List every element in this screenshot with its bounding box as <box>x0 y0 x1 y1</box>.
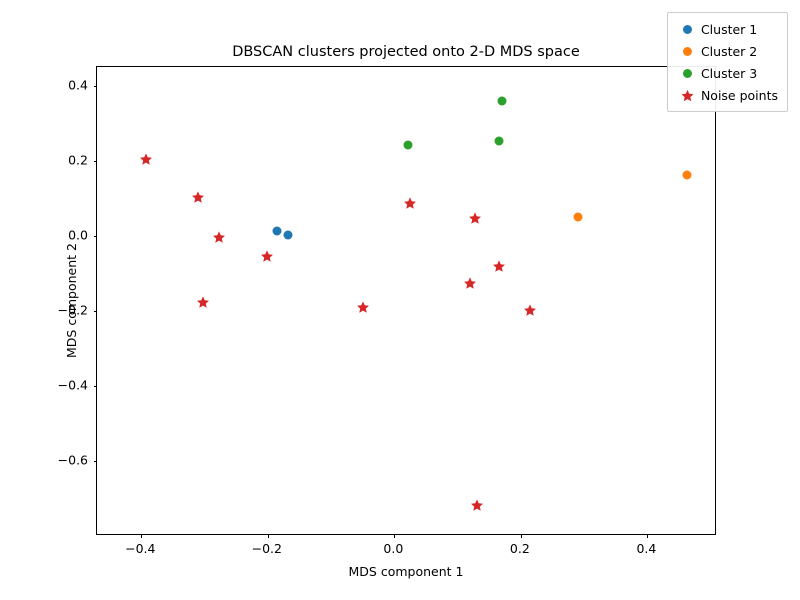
data-point <box>524 303 537 316</box>
legend: Cluster 1Cluster 2Cluster 3Noise points <box>667 12 788 112</box>
data-point-marker <box>683 170 692 179</box>
data-point <box>468 211 481 224</box>
data-point-marker <box>574 213 583 222</box>
data-point <box>495 136 504 145</box>
data-point <box>683 170 692 179</box>
data-point <box>140 152 153 165</box>
y-tick-label: −0.2 <box>58 302 88 317</box>
data-point-marker <box>497 96 506 105</box>
circle-marker-icon <box>675 47 701 56</box>
data-point <box>356 301 369 314</box>
data-point-marker <box>284 231 293 240</box>
data-point <box>403 196 416 209</box>
x-axis-label: MDS component 1 <box>96 564 716 579</box>
chart-title: DBSCAN clusters projected onto 2-D MDS s… <box>96 44 716 60</box>
star-marker-icon <box>675 89 701 102</box>
y-axis-label-text: MDS component 2 <box>64 243 79 358</box>
y-tick-mark <box>94 86 98 87</box>
legend-entry[interactable]: Cluster 2 <box>675 41 778 61</box>
data-point <box>284 231 293 240</box>
matplotlib-figure: DBSCAN clusters projected onto 2-D MDS s… <box>0 0 800 600</box>
data-point <box>404 140 413 149</box>
data-point <box>493 259 506 272</box>
x-tick-mark <box>141 534 142 538</box>
x-tick-mark <box>268 534 269 538</box>
data-point-marker <box>272 226 281 235</box>
legend-label: Cluster 2 <box>701 44 757 59</box>
y-tick-mark <box>94 236 98 237</box>
y-tick-label: 0.2 <box>68 152 88 167</box>
y-tick-label: 0.4 <box>68 77 88 92</box>
data-point <box>574 213 583 222</box>
legend-label: Cluster 1 <box>701 22 757 37</box>
legend-entry[interactable]: Cluster 3 <box>675 63 778 83</box>
data-point-marker <box>495 136 504 145</box>
x-tick-mark <box>394 534 395 538</box>
data-point <box>213 230 226 243</box>
y-tick-label: −0.6 <box>58 452 88 467</box>
plot-area <box>96 66 716 535</box>
x-tick-label: 0.4 <box>636 541 656 556</box>
x-tick-mark <box>521 534 522 538</box>
legend-entry[interactable]: Noise points <box>675 85 778 105</box>
data-point <box>261 250 274 263</box>
legend-label: Noise points <box>701 88 778 103</box>
data-point-marker <box>404 140 413 149</box>
x-tick-mark <box>647 534 648 538</box>
circle-marker-icon <box>675 25 701 34</box>
data-point <box>192 190 205 203</box>
data-point <box>196 295 209 308</box>
x-tick-label: 0.0 <box>383 541 403 556</box>
x-tick-label: 0.2 <box>510 541 530 556</box>
data-point <box>471 499 484 512</box>
x-tick-label: −0.4 <box>125 541 155 556</box>
y-tick-mark <box>94 461 98 462</box>
y-tick-mark <box>94 386 98 387</box>
y-tick-mark <box>94 161 98 162</box>
y-tick-label: −0.4 <box>58 377 88 392</box>
data-point <box>272 226 281 235</box>
x-tick-label: −0.2 <box>252 541 282 556</box>
legend-label: Cluster 3 <box>701 66 757 81</box>
data-point <box>464 277 477 290</box>
legend-entry[interactable]: Cluster 1 <box>675 19 778 39</box>
y-tick-mark <box>94 311 98 312</box>
data-point <box>497 96 506 105</box>
circle-marker-icon <box>675 69 701 78</box>
y-tick-label: 0.0 <box>68 227 88 242</box>
